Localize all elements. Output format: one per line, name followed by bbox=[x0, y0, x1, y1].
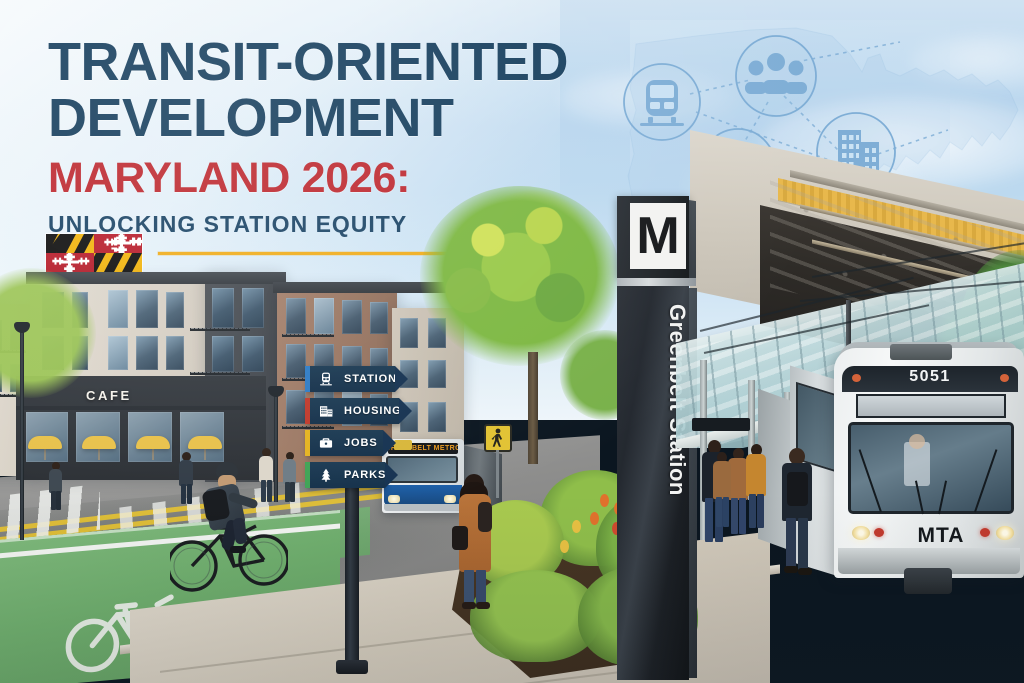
train-headlight bbox=[996, 526, 1014, 540]
sign-color-stripe bbox=[305, 366, 310, 392]
sign-color-stripe bbox=[305, 462, 310, 488]
window bbox=[136, 290, 158, 328]
balcony bbox=[190, 372, 250, 375]
wayfinding-sign-label: HOUSING bbox=[344, 405, 402, 417]
window bbox=[370, 302, 388, 334]
cyclist-shoe bbox=[230, 546, 246, 553]
patio-umbrella bbox=[28, 436, 62, 449]
street-lamp-post bbox=[20, 330, 24, 540]
window bbox=[428, 360, 446, 388]
wayfinding-sign-label: JOBS bbox=[344, 437, 378, 449]
pedestrian-crossing-sign bbox=[484, 424, 512, 452]
sign-color-stripe bbox=[305, 398, 310, 424]
wayfinding-sign-housing[interactable]: HOUSING bbox=[305, 398, 399, 424]
pedestrian-leg bbox=[716, 497, 722, 527]
window bbox=[242, 288, 264, 328]
window bbox=[286, 390, 306, 424]
mta-wordmark: MTA bbox=[892, 526, 990, 546]
train-coupler bbox=[904, 568, 952, 594]
window bbox=[212, 288, 234, 328]
train-roof-equipment bbox=[890, 344, 952, 360]
window bbox=[108, 336, 128, 370]
window bbox=[166, 292, 184, 328]
metro-m-letter: M bbox=[636, 210, 679, 262]
shoulder-bag bbox=[478, 502, 492, 532]
poster-canvas: TRANSIT-ORIENTED DEVELOPMENT MARYLAND 20… bbox=[0, 0, 1024, 683]
pedestrian-leg bbox=[464, 570, 474, 604]
traffic-signal-box bbox=[394, 440, 412, 450]
window bbox=[136, 336, 158, 370]
patio-umbrella bbox=[188, 436, 222, 449]
backpack bbox=[787, 472, 808, 506]
pedestrian-leg bbox=[798, 518, 808, 570]
tree-icon bbox=[314, 462, 338, 488]
window bbox=[166, 336, 184, 370]
pedestrian-shoe bbox=[784, 566, 798, 573]
bus-bumper bbox=[384, 504, 462, 511]
pedestrian bbox=[776, 448, 816, 584]
wayfinding-sign-station[interactable]: STATION bbox=[305, 366, 395, 392]
pedestrian bbox=[745, 444, 767, 534]
network-node-community bbox=[736, 36, 816, 116]
pedestrian-leg bbox=[757, 494, 764, 528]
pedestrian-leg bbox=[56, 491, 61, 510]
signpost-base bbox=[336, 660, 368, 674]
pedestrian-leg bbox=[749, 494, 756, 528]
pedestrian-leg bbox=[786, 518, 796, 568]
pedestrian-leg bbox=[476, 570, 486, 604]
sign-color-stripe bbox=[305, 430, 310, 456]
train-destination-panel bbox=[856, 394, 1006, 418]
wayfinding-sign-label: STATION bbox=[344, 373, 397, 385]
operator-head bbox=[909, 434, 925, 449]
headline-line-2: DEVELOPMENT bbox=[48, 92, 608, 144]
train-taillight bbox=[980, 528, 990, 537]
window bbox=[314, 298, 334, 334]
wayfinding-sign-jobs[interactable]: JOBS bbox=[305, 430, 383, 456]
awning bbox=[16, 406, 266, 410]
cyclist bbox=[170, 462, 290, 602]
patio-umbrella bbox=[136, 436, 170, 449]
wayfinding-sign-label: PARKS bbox=[344, 469, 386, 481]
window bbox=[286, 344, 306, 378]
pedestrian-leg bbox=[290, 482, 295, 502]
tree-trunk bbox=[528, 352, 538, 464]
pedestrian-torso bbox=[49, 469, 62, 493]
pedestrian bbox=[48, 462, 63, 512]
pedestrian-shoe bbox=[462, 602, 476, 609]
gold-divider-rule bbox=[158, 252, 466, 255]
network-node-transit bbox=[624, 64, 700, 140]
pedestrian-torso bbox=[746, 454, 766, 496]
maryland-flag-icon bbox=[46, 234, 142, 272]
pedestrian-shoe bbox=[798, 568, 812, 575]
wayfinding-signpost bbox=[345, 476, 359, 672]
flower bbox=[560, 540, 569, 553]
pedestrian-leg bbox=[731, 498, 738, 534]
train-taillight bbox=[874, 528, 884, 537]
pedestrian-woman bbox=[452, 474, 498, 616]
balcony bbox=[282, 334, 334, 337]
pedestrian-shoe bbox=[476, 602, 490, 609]
flower bbox=[600, 494, 609, 507]
window bbox=[342, 300, 362, 334]
brand-row bbox=[46, 231, 466, 275]
headline-line-1: TRANSIT-ORIENTED bbox=[48, 36, 608, 88]
train-car-number: 5051 bbox=[842, 368, 1018, 386]
pedestrian-torso bbox=[713, 461, 731, 499]
window bbox=[242, 336, 264, 372]
train-icon bbox=[314, 366, 338, 392]
pedestrian bbox=[712, 452, 732, 532]
cafe-sign: CAFE bbox=[86, 388, 132, 403]
platform-info-sign bbox=[692, 418, 750, 431]
patio-umbrella bbox=[82, 436, 116, 449]
window bbox=[212, 336, 234, 372]
window bbox=[286, 298, 306, 334]
bus-headlight bbox=[388, 495, 400, 503]
window bbox=[108, 290, 128, 328]
flower bbox=[572, 520, 581, 533]
flower bbox=[590, 512, 599, 525]
briefcase-icon bbox=[314, 430, 338, 456]
train-headlight bbox=[852, 526, 870, 540]
balcony bbox=[282, 426, 334, 429]
building-icon bbox=[314, 398, 338, 424]
pedestrian-leg bbox=[723, 497, 729, 527]
window bbox=[400, 318, 418, 348]
backpack bbox=[202, 488, 231, 522]
balcony bbox=[190, 328, 250, 331]
handbag bbox=[452, 526, 468, 550]
wayfinding-sign-parks[interactable]: PARKS bbox=[305, 462, 385, 488]
